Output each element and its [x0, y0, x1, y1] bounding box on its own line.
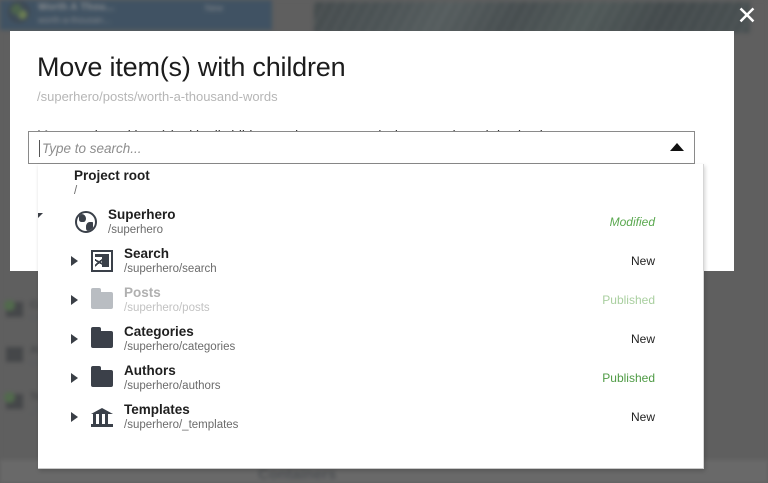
option-categories[interactable]: Categories/superhero/categoriesNew [38, 320, 703, 359]
document-mark-icon [95, 258, 104, 267]
option-path: /superhero [108, 224, 163, 236]
option-path: /superhero/authors [124, 380, 221, 392]
status-badge: Published [602, 293, 655, 307]
twisty-collapsed-icon[interactable] [71, 412, 78, 422]
option-label: Posts [124, 285, 161, 300]
twisty-collapsed-icon[interactable] [71, 334, 78, 344]
option-label: Authors [124, 363, 176, 378]
status-badge: Published [602, 371, 655, 385]
twisty-collapsed-icon[interactable] [71, 256, 78, 266]
option-authors[interactable]: Authors/superhero/authorsPublished [38, 359, 703, 398]
globe-icon [75, 211, 97, 233]
twisty-expanded-icon[interactable] [38, 213, 43, 222]
option-path: /superhero/categories [124, 341, 235, 353]
option-superhero[interactable]: Superhero/superheroModified [38, 203, 703, 242]
dialog-title: Move item(s) with children [37, 52, 345, 83]
document-icon [91, 250, 113, 272]
chevron-up-icon[interactable] [670, 143, 684, 151]
option-label: Superhero [108, 207, 176, 222]
close-icon[interactable]: ✕ [732, 2, 762, 32]
option-path: / [74, 185, 77, 197]
option-project-root[interactable]: Project root/ [38, 164, 703, 203]
status-badge: Modified [610, 215, 655, 229]
option-posts: Posts/superhero/postsPublished [38, 281, 703, 320]
search-input-placeholder[interactable]: Type to search... [42, 141, 142, 156]
option-path: /superhero/posts [124, 302, 210, 314]
status-badge: New [631, 410, 655, 424]
folder-icon [91, 331, 113, 348]
option-label: Templates [124, 402, 190, 417]
text-caret [39, 140, 40, 157]
bank-base [91, 424, 113, 427]
screen: Worth A Thou... worth-a-thousan... New C… [0, 0, 768, 483]
destination-options-list[interactable]: Project root/Superhero/superheroModified… [38, 164, 704, 469]
bank-icon [91, 406, 113, 428]
dialog-subtitle-path: /superhero/posts/worth-a-thousand-words [37, 89, 278, 104]
folder-icon [91, 370, 113, 387]
option-path: /superhero/_templates [124, 419, 238, 431]
folder-icon [91, 292, 113, 309]
option-label: Search [124, 246, 169, 261]
option-path: /superhero/search [124, 263, 217, 275]
twisty-collapsed-icon[interactable] [71, 373, 78, 383]
option-templates[interactable]: Templates/superhero/_templatesNew [38, 398, 703, 437]
destination-combobox[interactable]: Type to search... [28, 131, 695, 164]
option-label: Project root [74, 168, 150, 183]
twisty-collapsed-icon[interactable] [71, 295, 78, 305]
bank-cols [93, 414, 111, 424]
option-label: Categories [124, 324, 194, 339]
status-badge: New [631, 254, 655, 268]
status-badge: New [631, 332, 655, 346]
option-search[interactable]: Search/superhero/searchNew [38, 242, 703, 281]
